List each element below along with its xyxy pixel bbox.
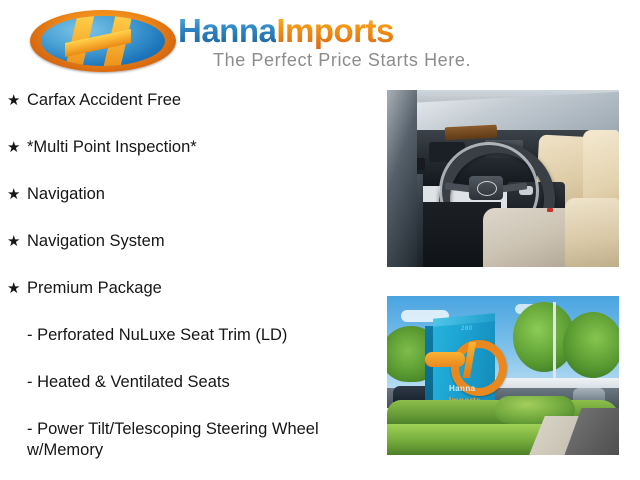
vehicle-interior-photo[interactable] (387, 90, 619, 267)
hanna-oval-h-logo-icon (30, 10, 176, 72)
feature-label: Carfax Accident Free (27, 90, 376, 111)
feature-label: Navigation System (27, 231, 376, 252)
star-bullet-icon: ★ (7, 184, 20, 205)
dealership-sign-line1: Hanna (449, 384, 475, 393)
star-bullet-icon: ★ (7, 278, 20, 299)
interior-wood-trim (445, 125, 498, 141)
dealership-street-number: 280 (461, 326, 473, 332)
feature-sub-item: - Perforated NuLuxe Seat Trim (LD) (0, 325, 376, 372)
feature-list-item: ★ Premium Package (0, 278, 376, 325)
interior-indicator-light (547, 208, 553, 212)
star-bullet-icon: ★ (7, 231, 20, 252)
vehicle-feature-list: ★ Carfax Accident Free ★ *Multi Point In… (0, 90, 376, 466)
lexus-emblem-icon (477, 181, 497, 196)
feature-label: - Power Tilt/Telescoping Steering Wheel … (27, 419, 376, 461)
brand-name-hanna: Hanna (178, 12, 276, 49)
feature-label: *Multi Point Inspection* (27, 137, 376, 158)
dealership-tree-right (563, 312, 619, 378)
feature-label: - Heated & Ventilated Seats (27, 372, 376, 393)
brand-header: HannaImports The Perfect Price Starts He… (0, 0, 640, 88)
feature-list-item: ★ Carfax Accident Free (0, 90, 376, 137)
dealership-sign-photo[interactable]: 280 Hanna Imports (387, 296, 619, 455)
feature-list-item: ★ *Multi Point Inspection* (0, 137, 376, 184)
brand-tagline: The Perfect Price Starts Here. (213, 50, 471, 71)
interior-a-pillar (387, 90, 417, 267)
feature-list-item: ★ Navigation (0, 184, 376, 231)
feature-label: Navigation (27, 184, 376, 205)
feature-list-item: ★ Navigation System (0, 231, 376, 278)
star-bullet-icon: ★ (7, 90, 20, 111)
feature-sub-item: - Power Tilt/Telescoping Steering Wheel … (0, 419, 376, 466)
brand-name-imports: Imports (276, 12, 394, 49)
brand-wordmark: HannaImports (178, 14, 394, 47)
logo-oval-inner (41, 16, 165, 66)
star-bullet-icon: ★ (7, 137, 20, 158)
feature-label: - Perforated NuLuxe Seat Trim (LD) (27, 325, 376, 346)
interior-seat-bolster (565, 198, 619, 267)
dealership-logo-bar-icon (425, 352, 465, 367)
feature-sub-item: - Heated & Ventilated Seats (0, 372, 376, 419)
feature-label: Premium Package (27, 278, 376, 299)
